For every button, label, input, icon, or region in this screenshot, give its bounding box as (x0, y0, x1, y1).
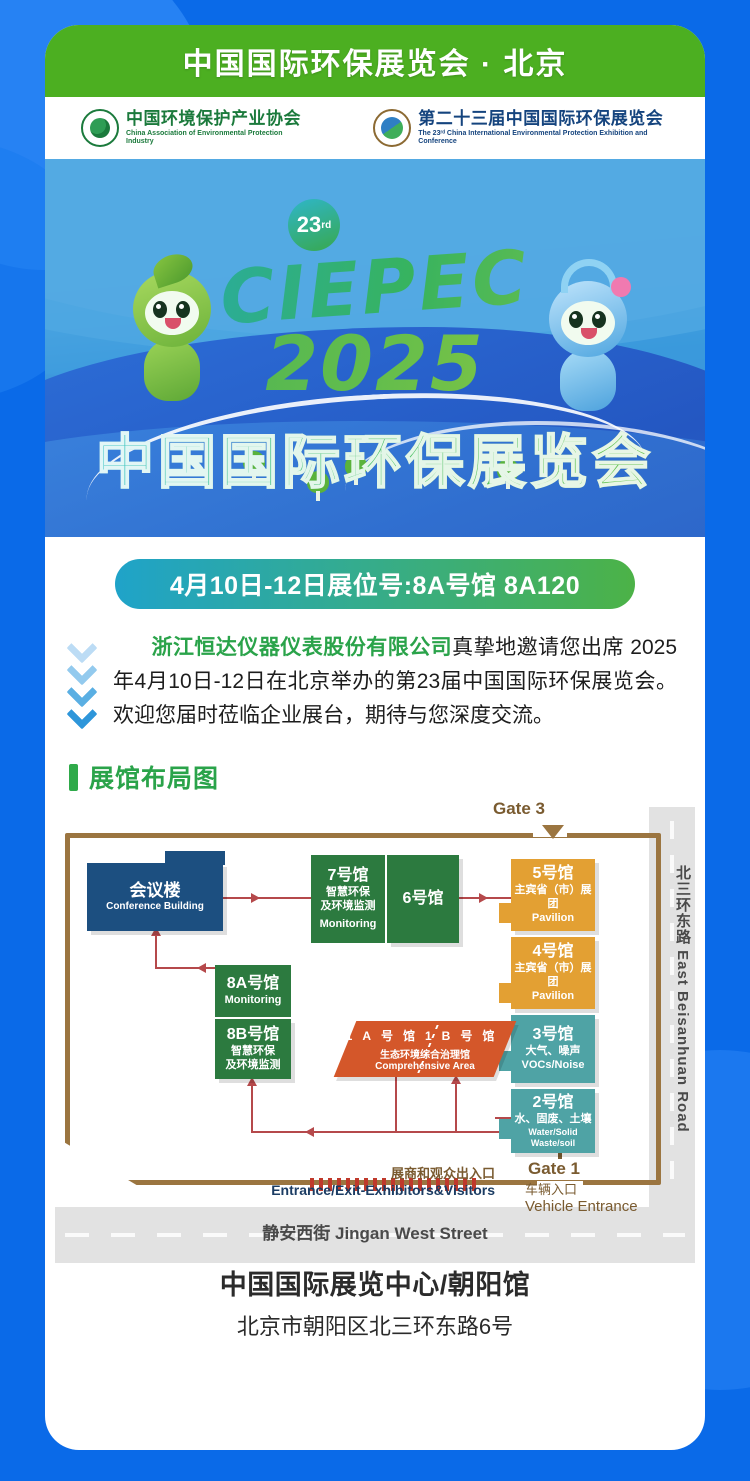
route-line (251, 1079, 253, 1131)
hall-3[interactable]: 3号馆 大气、噪声 VOCs/Noise (511, 1015, 595, 1083)
invitation-card: 中国国际环保展览会 · 北京 中国环境保护产业协会 China Associat… (45, 25, 705, 1450)
route-line (395, 1077, 397, 1131)
organizer-logo-row: 中国环境保护产业协会 China Association of Environm… (45, 97, 705, 159)
venue-address: 北京市朝阳区北三环东路6号 (45, 1309, 705, 1341)
hero-title-cn: 中国国际环保展览会 (45, 415, 705, 499)
route-line (223, 897, 315, 899)
page-title: 中国国际环保展览会 · 北京 (183, 39, 568, 83)
hero-banner: 23rd CIEPEC 2025 中国国际环保展览会 (45, 159, 705, 537)
association-seal-icon (81, 109, 119, 147)
logo-ciepec: 第二十三届中国国际环保展览会 The 23ʳᵈ China Internatio… (373, 109, 687, 147)
venue-name: 中国国际展览中心/朝阳馆 (45, 1263, 705, 1302)
route-arrow-icon (479, 893, 488, 903)
gate-1-label: Gate 1 (528, 1159, 580, 1179)
edition-number: 23 (297, 212, 321, 238)
hall-8a[interactable]: 8A号馆 Monitoring (215, 965, 291, 1017)
hall-5[interactable]: 5号馆 主宾省（市）展团 Pavilion (511, 859, 595, 931)
floor-plan-map: 北三环东路 East Beisanhuan Road 静安西街 Jingan W… (55, 807, 695, 1237)
hall-6[interactable]: 6号馆 (387, 855, 459, 943)
hall-conference-building[interactable]: 会议楼 Conference Building (87, 863, 223, 931)
hall-8a-8b-divider (219, 1017, 287, 1019)
hall-1ab-subtitle-en: Comprehensive Area (375, 1061, 475, 1072)
hall-7[interactable]: 7号馆 智慧环保 及环境监测 Monitoring (311, 855, 385, 943)
chevron-down-icon (67, 679, 97, 699)
route-arrow-icon (197, 963, 206, 973)
chevron-down-icon (67, 635, 97, 655)
page-header: 中国国际环保展览会 · 北京 (45, 25, 705, 97)
section-header-floorplan: 展馆布局图 (45, 733, 705, 807)
visitor-entrance-label: 展商和观众出入口 Entrance/Exit-Exhibitors&Visito… (245, 1163, 495, 1198)
section-accent-bar (69, 764, 78, 791)
exhibition-name-cn: 第二十三届中国国际环保展览会 (418, 109, 687, 129)
hall-7-6-divider (385, 861, 387, 937)
road-south-label: 静安西街 Jingan West Street (55, 1219, 695, 1244)
edition-suffix: rd (321, 220, 331, 231)
hall-8b[interactable]: 8B号馆 智慧环保 及环境监测 (215, 1019, 291, 1079)
hall-4[interactable]: 4号馆 主宾省（市）展团 Pavilion (511, 937, 595, 1009)
vehicle-entrance-label: 车辆入口 Vehicle Entrance (525, 1179, 638, 1215)
invitation-text: 浙江恒达仪器仪表股份有限公司真挚地邀请您出席 2025年4月10日-12日在北京… (113, 631, 677, 733)
logo-association: 中国环境保护产业协会 China Association of Environm… (81, 109, 311, 147)
association-name-en: China Association of Environmental Prote… (126, 130, 311, 147)
hall-1ab: 1A号馆1B号馆 生态环境综合治理馆 Comprehensive Area (345, 1021, 505, 1077)
ciepec-seal-icon (373, 109, 411, 147)
association-name-cn: 中国环境保护产业协会 (126, 109, 311, 129)
invitation-block: 浙江恒达仪器仪表股份有限公司真挚地邀请您出席 2025年4月10日-12日在北京… (45, 609, 705, 733)
route-line (455, 1077, 457, 1131)
road-east-label: 北三环东路 East Beisanhuan Road (672, 865, 693, 1133)
date-badge-wrapper: 4月10日-12日展位号:8A号馆 8A120 (45, 537, 705, 609)
hall-1a-label: 1A号馆 (346, 1029, 425, 1043)
edition-badge: 23rd (288, 199, 340, 251)
chevron-down-icon (67, 701, 97, 721)
chevron-group (67, 631, 101, 733)
exhibition-name-en: The 23ʳᵈ China International Environment… (418, 130, 687, 147)
gate-3-label: Gate 3 (493, 799, 545, 819)
gate-3-marker-icon (542, 825, 564, 839)
route-arrow-icon (305, 1127, 314, 1137)
hall-1b-label: 1B号馆 (425, 1029, 504, 1043)
hero-year: 2025 (45, 319, 705, 408)
chevron-down-icon (67, 657, 97, 677)
hall-2[interactable]: 2号馆 水、固废、土壤 Water/Solid Waste/soil (511, 1089, 595, 1153)
date-booth-badge: 4月10日-12日展位号:8A号馆 8A120 (115, 559, 635, 609)
route-arrow-icon (251, 893, 260, 903)
section-title-text: 展馆布局图 (89, 759, 219, 795)
company-name: 浙江恒达仪器仪表股份有限公司 (151, 636, 452, 659)
